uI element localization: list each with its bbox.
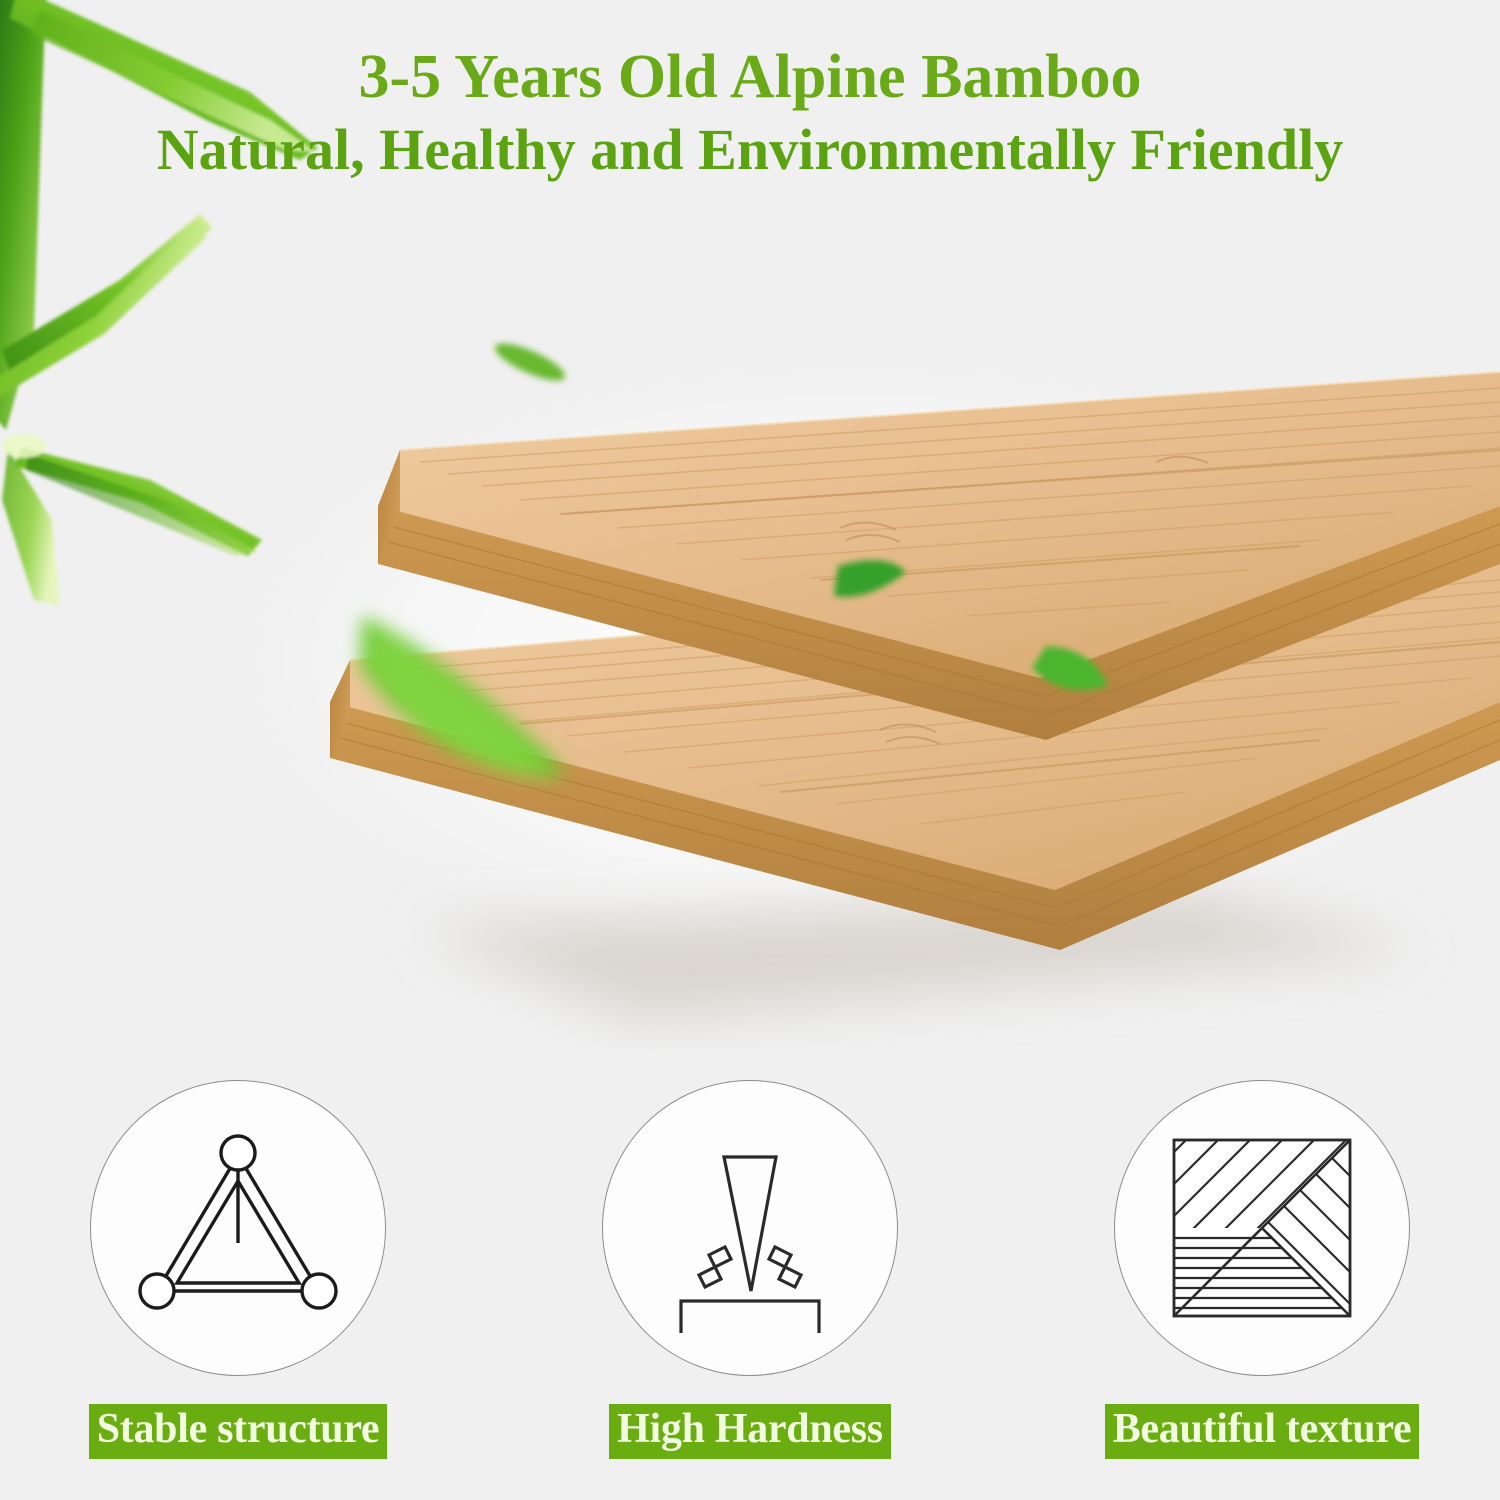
parquet-grain-icon xyxy=(1162,1128,1362,1328)
page-subtitle: Natural, Healthy and Environmentally Fri… xyxy=(0,119,1500,182)
triangle-truss-icon xyxy=(133,1123,343,1333)
feature-label: High Hardness xyxy=(609,1404,891,1459)
floating-leaf-1 xyxy=(491,336,569,387)
feature-stable-structure: Stable structure xyxy=(78,1080,398,1500)
needle-impact-icon xyxy=(645,1123,855,1333)
headline-block: 3-5 Years Old Alpine Bamboo Natural, Hea… xyxy=(0,46,1500,182)
feature-icon-circle xyxy=(1114,1080,1410,1376)
feature-row: Stable structure xyxy=(0,1080,1500,1500)
feature-label: Stable structure xyxy=(89,1404,388,1459)
bamboo-boards-illustration xyxy=(0,330,1500,1050)
feature-label: Beautiful texture xyxy=(1105,1404,1420,1459)
feature-high-hardness: High Hardness xyxy=(590,1080,910,1500)
feature-beautiful-texture: Beautiful texture xyxy=(1102,1080,1422,1500)
feature-icon-circle xyxy=(90,1080,386,1376)
page-title: 3-5 Years Old Alpine Bamboo xyxy=(0,46,1500,109)
feature-icon-circle xyxy=(602,1080,898,1376)
product-feature-image: 3-5 Years Old Alpine Bamboo Natural, Hea… xyxy=(0,0,1500,1500)
